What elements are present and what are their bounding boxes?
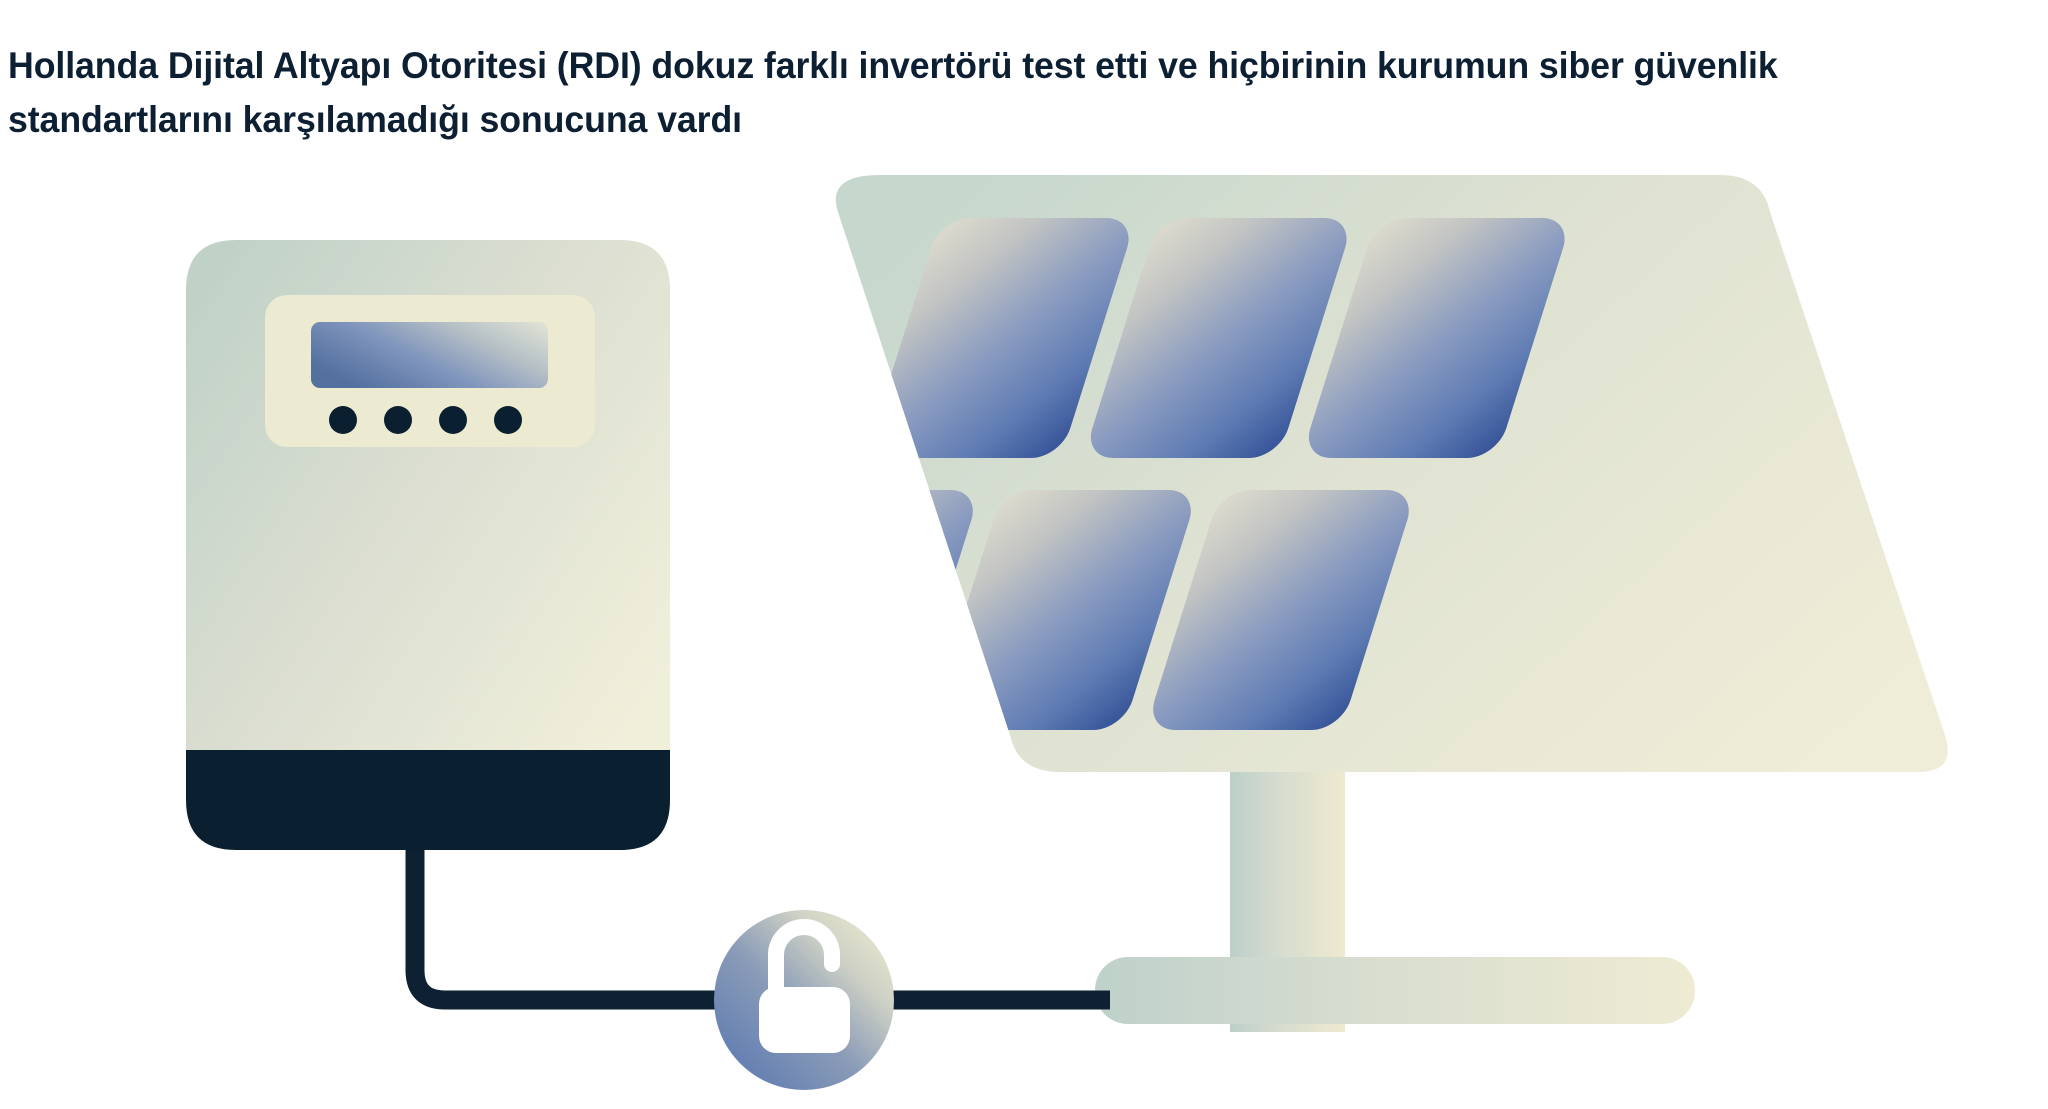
page-title: Hollanda Dijital Altyapı Otoritesi (RDI)…	[8, 39, 1967, 148]
display-screen	[311, 322, 548, 388]
solar-panel	[709, 175, 1948, 772]
padlock-body	[759, 987, 850, 1053]
status-indicator-dot	[384, 406, 412, 434]
inverter-base	[186, 750, 670, 850]
hero-illustration	[0, 150, 2048, 1109]
illustration-card: Hollanda Dijital Altyapı Otoritesi (RDI)…	[0, 0, 2048, 1109]
inverter-display-panel	[265, 295, 595, 447]
status-indicator-dot	[494, 406, 522, 434]
status-indicator-dot	[439, 406, 467, 434]
lock-badge	[714, 910, 894, 1090]
stand-base-bar	[1095, 957, 1695, 1024]
illustration-svg	[0, 150, 2048, 1109]
status-indicator-dot	[329, 406, 357, 434]
inverter-unit	[186, 240, 670, 850]
solar-cell	[709, 490, 981, 730]
